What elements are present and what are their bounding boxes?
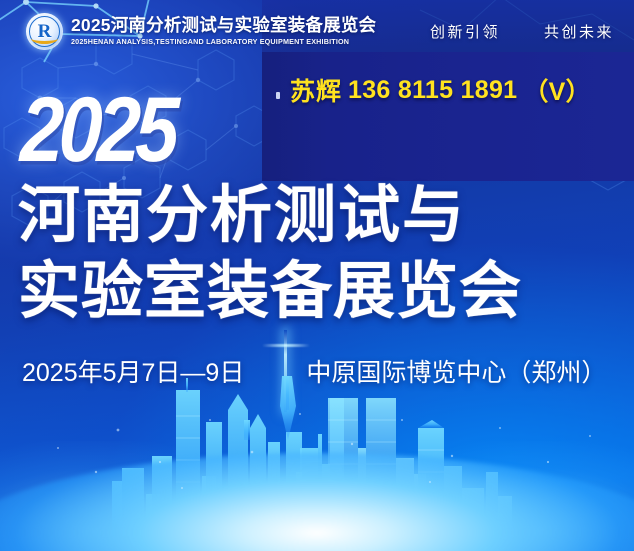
poster-header: R 2025河南分析测试与实验室装备展览会 2025HENAN ANALYSIS…	[0, 8, 634, 54]
city-skyline	[0, 376, 634, 551]
contact-phone-number: 136 8115 1891	[348, 76, 517, 105]
slogan-1: 创新引领	[430, 21, 500, 42]
exhibition-poster: R 2025河南分析测试与实验室装备展览会 2025HENAN ANALYSIS…	[0, 0, 634, 551]
year-logotype: 2025	[19, 88, 175, 173]
slogan-2: 共创未来	[544, 21, 614, 42]
emblem-arc	[31, 33, 58, 44]
brand-title-en: 2025HENAN ANALYSIS,TESTINGAND LABORATORY…	[71, 38, 376, 45]
headline-block: 河南分析测试与 实验室装备展览会	[18, 178, 622, 330]
headline-line-1: 河南分析测试与	[18, 178, 622, 254]
brand-title-cn: 2025河南分析测试与实验室装备展览会	[71, 17, 376, 35]
contact-name: 苏辉	[290, 72, 342, 108]
headline-line-2: 实验室装备展览会	[18, 254, 622, 330]
contact-phone-line: 苏辉 136 8115 1891 （V）	[290, 73, 591, 107]
contact-phone-suffix: （V）	[523, 72, 591, 108]
brand-block: 2025河南分析测试与实验室装备展览会 2025HENAN ANALYSIS,T…	[71, 17, 376, 45]
exhibition-emblem-icon: R	[26, 13, 63, 50]
slogan-group: 创新引领 共创未来	[430, 21, 614, 42]
decorative-dot	[276, 92, 280, 99]
